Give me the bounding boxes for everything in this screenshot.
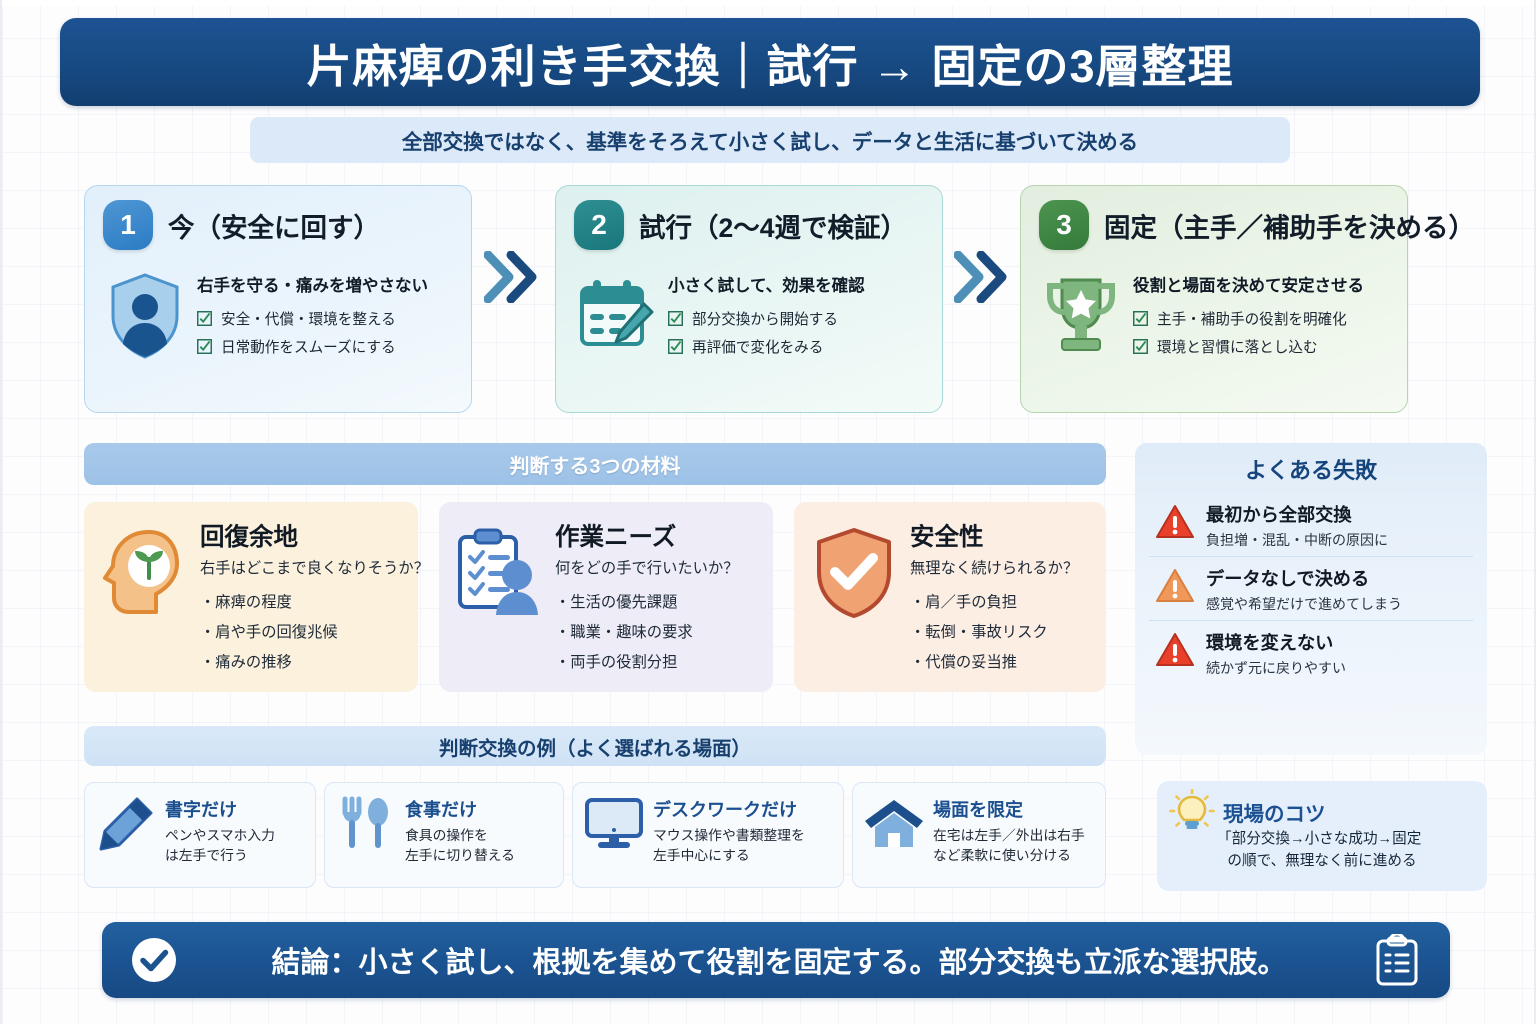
step-card-3: 3 固定（主手／補助手を決める） 役割と場面を決めて安定させる: [1020, 185, 1408, 413]
step-2-number-badge: 2: [574, 200, 624, 250]
material-card-safety-texts: 安全性 無理なく続けられるか？ ・肩／手の負担 ・転倒・事故リスク ・代償の妥当…: [910, 514, 1078, 680]
common-failures-heading: よくある失敗: [1149, 453, 1473, 485]
failure-item-0: 最初から全部交換 負担増・混乱・中断の原因に: [1149, 493, 1473, 556]
example-line-0-2: は左手で行う: [165, 846, 275, 866]
example-card-deskwork: デスクワークだけ マウス操作や書類整理を 左手中心にする: [572, 782, 844, 888]
step-1-number-badge: 1: [103, 200, 153, 250]
step-2-check-0: 部分交換から開始する: [668, 308, 865, 329]
step-1-header: 1 今（安全に回す）: [103, 200, 453, 250]
example-line-3-2: など柔軟に使い分ける: [933, 846, 1085, 866]
chevron-right-icon-1: [484, 251, 540, 303]
step-1-check-label-1: 日常動作をスムーズにする: [221, 336, 396, 357]
step-3-number-badge: 3: [1039, 200, 1089, 250]
step-3-body: 役割と場面を決めて安定させる 主手・補助手の役割を明確化 環境と習慣に落とし込む: [1039, 266, 1389, 366]
example-card-deskwork-texts: デスクワークだけ マウス操作や書類整理を 左手中心にする: [653, 793, 805, 866]
infographic-page: 片麻痺の利き手交換｜試行 → 固定の3層整理 全部交換ではなく、基準をそろえて小…: [0, 0, 1536, 1024]
material-title-2: 安全性: [910, 518, 1078, 553]
checkbox-icon: [668, 311, 683, 326]
failure-sub-2: 続かず元に戻りやすい: [1206, 658, 1346, 678]
warning-triangle-icon: [1155, 500, 1195, 538]
step-3-check-0: 主手・補助手の役割を明確化: [1133, 308, 1364, 329]
material-item-1-0: ・生活の優先課題: [555, 590, 739, 612]
material-card-recovery: 回復余地 右手はどこまで良くなりそうか？ ・麻痺の程度 ・肩や手の回復兆候 ・痛…: [84, 502, 418, 692]
step-1-title: 今（安全に回す）: [168, 206, 380, 245]
warning-triangle-icon: [1155, 628, 1195, 666]
pencil-icon: [95, 793, 157, 855]
common-failures-panel: よくある失敗 最初から全部交換 負担増・混乱・中断の原因に: [1135, 443, 1487, 755]
example-line-3-1: 在宅は左手／外出は右手: [933, 826, 1085, 846]
head-sprout-icon: [98, 514, 190, 624]
check-circle-icon: [130, 936, 178, 984]
calendar-pen-icon: [574, 266, 658, 366]
material-card-recovery-texts: 回復余地 右手はどこまで良くなりそうか？ ・麻痺の程度 ・肩や手の回復兆候 ・痛…: [200, 514, 429, 680]
step-2-title: 試行（2〜4週で検証）: [639, 206, 907, 245]
field-tip-title: 現場のコツ: [1223, 797, 1326, 827]
field-tip-line-2: の順で、無理なく前に進める: [1171, 851, 1473, 873]
material-item-2-1: ・転倒・事故リスク: [910, 620, 1078, 642]
trophy-icon: [1039, 266, 1123, 366]
fork-spoon-icon: [335, 793, 397, 855]
examples-band: 判断交換の例（よく選ばれる場面）: [84, 726, 1106, 766]
step-1-texts: 右手を守る・痛みを増やさない 安全・代償・環境を整える 日常動作をスムーズにする: [197, 266, 428, 364]
failure-item-2: 環境を変えない 続かず元に戻りやすい: [1149, 620, 1473, 684]
monitor-icon: [583, 793, 645, 855]
step-2-lead: 小さく試して、効果を確認: [668, 272, 865, 296]
chevron-right-icon-2: [954, 251, 1010, 303]
clipboard-icon: [1374, 934, 1422, 986]
step-2-check-1: 再評価で変化をみる: [668, 336, 865, 357]
material-item-1-1: ・職業・趣味の要求: [555, 620, 739, 642]
header-banner: 片麻痺の利き手交換｜試行 → 固定の3層整理: [60, 18, 1480, 106]
checkbox-icon: [1133, 311, 1148, 326]
field-tip-panel: 現場のコツ 「部分交換→小さな成功→固定 の順で、無理なく前に進める: [1157, 781, 1487, 891]
material-item-2-2: ・代償の妥当推: [910, 650, 1078, 672]
checkbox-icon: [197, 311, 212, 326]
step-card-2: 2 試行（2〜4週で検証）: [555, 185, 943, 413]
example-card-writing: 書字だけ ペンやスマホ入力 は左手で行う: [84, 782, 316, 888]
material-item-0-0: ・麻痺の程度: [200, 590, 429, 612]
failure-item-0-texts: 最初から全部交換 負担増・混乱・中断の原因に: [1206, 500, 1388, 550]
house-icon: [863, 793, 925, 855]
example-title-1: 食事だけ: [405, 796, 515, 822]
clipboard-person-icon: [453, 514, 545, 624]
step-1-body: 右手を守る・痛みを増やさない 安全・代償・環境を整える 日常動作をスムーズにする: [103, 266, 453, 366]
steps-row: 1 今（安全に回す） 右手を守る・痛みを増やさない 安全・代償・環境を整える: [2, 185, 1536, 417]
materials-band-label: 判断する3つの材料: [509, 450, 680, 479]
step-2-header: 2 試行（2〜4週で検証）: [574, 200, 924, 250]
example-line-1-2: 左手に切り替える: [405, 846, 515, 866]
material-question-0: 右手はどこまで良くなりそうか？: [200, 556, 429, 578]
shield-check-icon: [808, 514, 900, 624]
checkbox-icon: [668, 339, 683, 354]
example-card-writing-texts: 書字だけ ペンやスマホ入力 は左手で行う: [165, 793, 275, 866]
failure-title-1: データなしで決める: [1206, 565, 1402, 591]
step-2-check-label-1: 再評価で変化をみる: [692, 336, 823, 357]
example-card-scene: 場面を限定 在宅は左手／外出は右手 など柔軟に使い分ける: [852, 782, 1106, 888]
example-title-2: デスクワークだけ: [653, 796, 805, 822]
failure-item-1-texts: データなしで決める 感覚や希望だけで進めてしまう: [1206, 564, 1402, 614]
example-card-scene-texts: 場面を限定 在宅は左手／外出は右手 など柔軟に使い分ける: [933, 793, 1085, 866]
conclusion-banner: 結論：小さく試し、根拠を集めて役割を固定する。部分交換も立派な選択肢。: [102, 922, 1450, 998]
step-3-check-label-1: 環境と習慣に落とし込む: [1157, 336, 1318, 357]
step-1-check-1: 日常動作をスムーズにする: [197, 336, 428, 357]
checkbox-icon: [1133, 339, 1148, 354]
material-title-0: 回復余地: [200, 518, 429, 553]
step-3-lead: 役割と場面を決めて安定させる: [1133, 272, 1364, 296]
page-title: 片麻痺の利き手交換｜試行 → 固定の3層整理: [306, 30, 1233, 95]
material-item-1-2: ・両手の役割分担: [555, 650, 739, 672]
step-2-texts: 小さく試して、効果を確認 部分交換から開始する 再評価で変化をみる: [668, 266, 865, 364]
step-2-check-label-0: 部分交換から開始する: [692, 308, 838, 329]
material-item-0-2: ・痛みの推移: [200, 650, 429, 672]
example-line-1-1: 食具の操作を: [405, 826, 515, 846]
examples-band-label: 判断交換の例（よく選ばれる場面）: [439, 732, 751, 761]
step-3-header: 3 固定（主手／補助手を決める）: [1039, 200, 1389, 250]
example-title-3: 場面を限定: [933, 796, 1085, 822]
example-line-0-1: ペンやスマホ入力: [165, 826, 275, 846]
example-title-0: 書字だけ: [165, 796, 275, 822]
example-card-eating-texts: 食事だけ 食具の操作を 左手に切り替える: [405, 793, 515, 866]
conclusion-text: 結論：小さく試し、根拠を集めて役割を固定する。部分交換も立派な選択肢。: [192, 939, 1366, 981]
example-line-2-1: マウス操作や書類整理を: [653, 826, 805, 846]
step-3-texts: 役割と場面を決めて安定させる 主手・補助手の役割を明確化 環境と習慣に落とし込む: [1133, 266, 1364, 364]
failure-title-0: 最初から全部交換: [1206, 501, 1388, 527]
shield-person-icon: [103, 266, 187, 366]
checkbox-icon: [197, 339, 212, 354]
material-card-safety: 安全性 無理なく続けられるか？ ・肩／手の負担 ・転倒・事故リスク ・代償の妥当…: [794, 502, 1106, 692]
materials-band: 判断する3つの材料: [84, 443, 1106, 485]
step-1-check-0: 安全・代償・環境を整える: [197, 308, 428, 329]
step-3-check-label-0: 主手・補助手の役割を明確化: [1157, 308, 1347, 329]
field-tip-line-1: 「部分交換→小さな成功→固定: [1171, 829, 1473, 851]
step-3-check-1: 環境と習慣に落とし込む: [1133, 336, 1364, 357]
step-card-1: 1 今（安全に回す） 右手を守る・痛みを増やさない 安全・代償・環境を整える: [84, 185, 472, 413]
material-question-2: 無理なく続けられるか？: [910, 556, 1078, 578]
warning-triangle-icon: [1155, 564, 1195, 602]
material-card-needs-texts: 作業ニーズ 何をどの手で行いたいか？ ・生活の優先課題 ・職業・趣味の要求 ・両…: [555, 514, 739, 680]
field-tip-body: 「部分交換→小さな成功→固定 の順で、無理なく前に進める: [1169, 829, 1475, 873]
subtitle-text: 全部交換ではなく、基準をそろえて小さく試し、データと生活に基づいて決める: [402, 125, 1138, 155]
material-title-1: 作業ニーズ: [555, 518, 739, 553]
subtitle-banner: 全部交換ではなく、基準をそろえて小さく試し、データと生活に基づいて決める: [250, 117, 1290, 163]
material-item-0-1: ・肩や手の回復兆候: [200, 620, 429, 642]
material-question-1: 何をどの手で行いたいか？: [555, 556, 739, 578]
failure-title-2: 環境を変えない: [1206, 629, 1346, 655]
material-card-needs: 作業ニーズ 何をどの手で行いたいか？ ・生活の優先課題 ・職業・趣味の要求 ・両…: [439, 502, 773, 692]
material-item-2-0: ・肩／手の負担: [910, 590, 1078, 612]
failure-sub-1: 感覚や希望だけで進めてしまう: [1206, 594, 1402, 614]
example-line-2-2: 左手中心にする: [653, 846, 805, 866]
failure-item-1: データなしで決める 感覚や希望だけで進めてしまう: [1149, 556, 1473, 620]
example-card-eating: 食事だけ 食具の操作を 左手に切り替える: [324, 782, 564, 888]
failure-item-2-texts: 環境を変えない 続かず元に戻りやすい: [1206, 628, 1346, 678]
step-3-title: 固定（主手／補助手を決める）: [1104, 206, 1475, 245]
step-1-check-label-0: 安全・代償・環境を整える: [221, 308, 396, 329]
step-1-lead: 右手を守る・痛みを増やさない: [197, 272, 428, 296]
failure-sub-0: 負担増・混乱・中断の原因に: [1206, 530, 1388, 550]
lightbulb-icon: [1169, 789, 1215, 835]
step-2-body: 小さく試して、効果を確認 部分交換から開始する 再評価で変化をみる: [574, 266, 924, 366]
